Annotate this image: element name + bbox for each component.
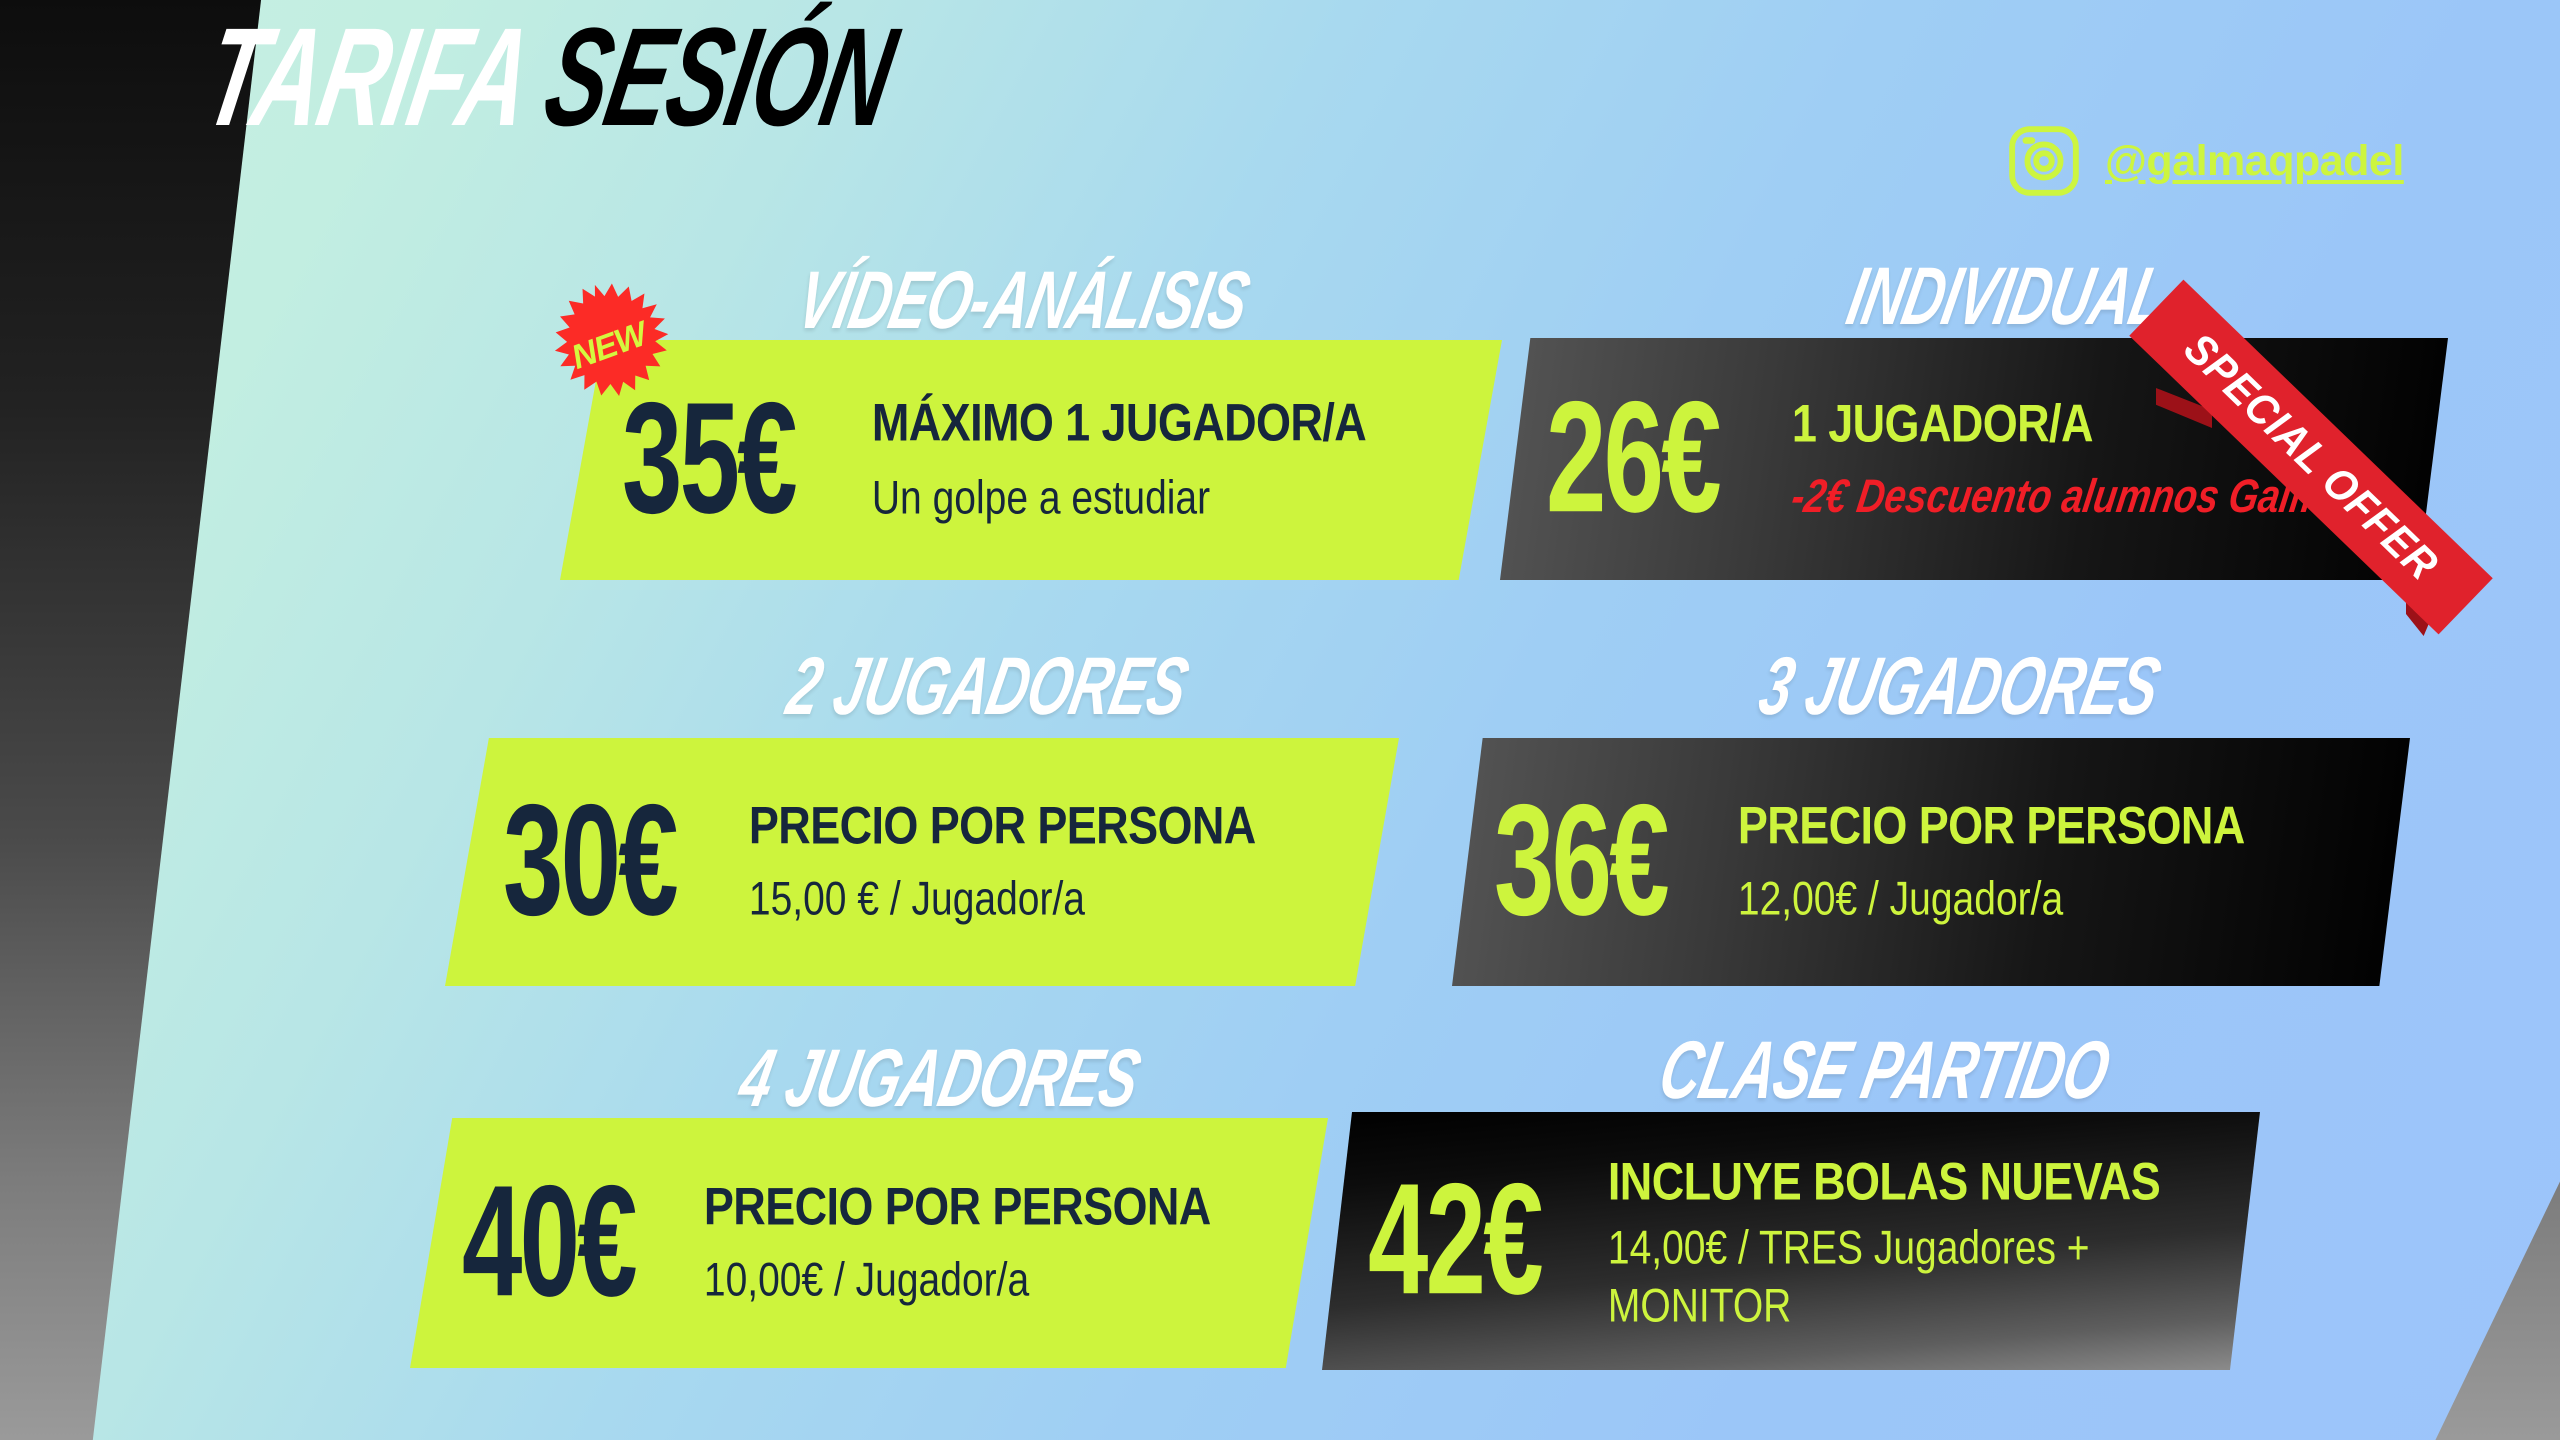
card-price: 40€ [462, 1173, 635, 1312]
instagram-icon [2005, 122, 2083, 200]
instagram-handle: @galmaqpadel [2105, 137, 2404, 186]
category-title: CLASE PARTIDO [1652, 1022, 2118, 1117]
card-subtext: Un golpe a estudiar [872, 470, 1366, 527]
page-title: TARIFA SESIÓN [195, 8, 904, 148]
card-headline: PRECIO POR PERSONA [749, 796, 1256, 857]
pricing-poster: TARIFA SESIÓN @galmaqpadel VÍDEO-ANÁLISI… [0, 0, 2560, 1440]
category-title: 2 JUGADORES [780, 638, 1196, 733]
card-price: 26€ [1546, 389, 1719, 528]
title-word-sesion: SESIÓN [534, 0, 906, 155]
price-card-clase-partido[interactable]: 42€ INCLUYE BOLAS NUEVAS 14,00€ / TRES J… [1322, 1112, 2260, 1370]
card-price: 30€ [503, 792, 676, 931]
card-price: 42€ [1368, 1171, 1541, 1310]
card-headline: 1 JUGADOR/A [1792, 393, 2369, 454]
card-price: 36€ [1494, 792, 1667, 931]
category-title: VÍDEO-ANÁLISIS [790, 252, 1257, 347]
card-subtext: 12,00€ / Jugador/a [1738, 871, 2245, 928]
card-subtext: 10,00€ / Jugador/a [704, 1252, 1211, 1309]
category-title: INDIVIDUAL [1840, 248, 2176, 343]
card-headline: PRECIO POR PERSONA [1738, 796, 2245, 857]
category-title: 4 JUGADORES [732, 1030, 1148, 1125]
card-headline: MÁXIMO 1 JUGADOR/A [872, 393, 1366, 454]
card-headline: PRECIO POR PERSONA [704, 1177, 1211, 1238]
price-card-4-jugadores[interactable]: 40€ PRECIO POR PERSONA 10,00€ / Jugador/… [410, 1118, 1328, 1368]
category-title: 3 JUGADORES [1752, 638, 2168, 733]
card-subtext: -2€ Descuento alumnos Galmaq [1787, 468, 2373, 525]
price-card-3-jugadores[interactable]: 36€ PRECIO POR PERSONA 12,00€ / Jugador/… [1452, 738, 2410, 986]
price-card-2-jugadores[interactable]: 30€ PRECIO POR PERSONA 15,00 € / Jugador… [445, 738, 1399, 986]
price-card-individual[interactable]: 26€ 1 JUGADOR/A -2€ Descuento alumnos Ga… [1500, 338, 2448, 580]
price-card-video-analisis[interactable]: 35€ MÁXIMO 1 JUGADOR/A Un golpe a estudi… [560, 340, 1502, 580]
card-price: 35€ [622, 390, 795, 529]
title-word-tarifa: TARIFA [193, 0, 539, 155]
card-subtext: 15,00 € / Jugador/a [749, 871, 1256, 928]
card-headline: INCLUYE BOLAS NUEVAS [1608, 1152, 2168, 1213]
card-subtext: 14,00€ / TRES Jugadores + MONITOR [1608, 1221, 2168, 1335]
instagram-link[interactable]: @galmaqpadel [2005, 122, 2404, 200]
